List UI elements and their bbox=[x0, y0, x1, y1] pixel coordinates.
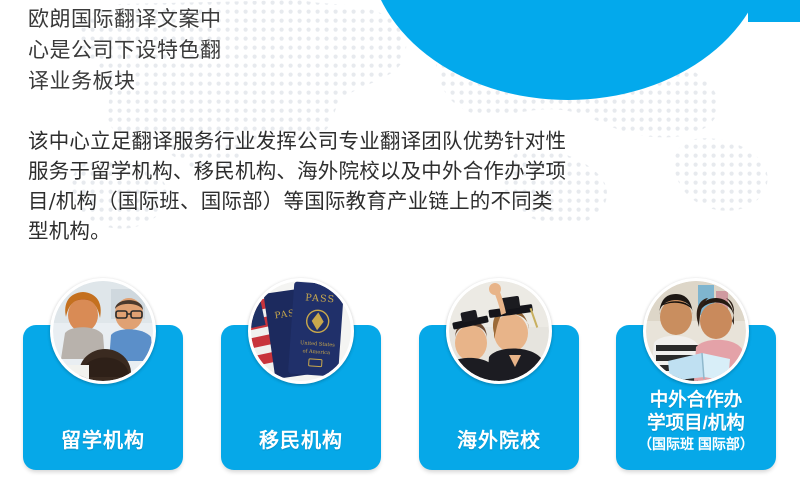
graduates-celebrating-photo bbox=[446, 278, 552, 384]
photo-frame bbox=[449, 281, 549, 381]
card-title: 中外合作办 学项目/机构 bbox=[616, 388, 776, 434]
students-consulting-photo bbox=[50, 278, 156, 384]
students-reading-photo bbox=[643, 278, 749, 384]
slide-canvas: 欧朗国际翻译文案中 心是公司下设特色翻 译业务板块 该中心立足翻译服务行业发挥公… bbox=[0, 0, 800, 487]
us-passports-photo: PASS PASS United States of America bbox=[248, 278, 354, 384]
blue-circle-decoration bbox=[368, 0, 768, 100]
card-label-group: 留学机构 bbox=[23, 429, 183, 454]
photo-frame: PASS PASS United States of America bbox=[251, 281, 351, 381]
card-label-group: 海外院校 bbox=[419, 429, 579, 454]
service-card-row: 留学机构 bbox=[0, 272, 800, 487]
photo-frame bbox=[53, 281, 153, 381]
card-title: 移民机构 bbox=[221, 429, 381, 454]
card-label-group: 移民机构 bbox=[221, 429, 381, 454]
photo-frame bbox=[646, 281, 746, 381]
page-body-paragraph: 该中心立足翻译服务行业发挥公司专业翻译团队优势针对性服务于留学机构、移民机构、海… bbox=[28, 126, 573, 246]
page-title: 欧朗国际翻译文案中 心是公司下设特色翻 译业务板块 bbox=[28, 4, 368, 97]
svg-text:PASS: PASS bbox=[305, 292, 336, 305]
card-label-group: 中外合作办 学项目/机构 （国际班 国际部） bbox=[616, 388, 776, 454]
card-title: 留学机构 bbox=[23, 429, 183, 454]
card-subtitle: （国际班 国际部） bbox=[616, 435, 776, 454]
card-title: 海外院校 bbox=[419, 429, 579, 454]
blue-corner-wedge bbox=[748, 0, 800, 22]
